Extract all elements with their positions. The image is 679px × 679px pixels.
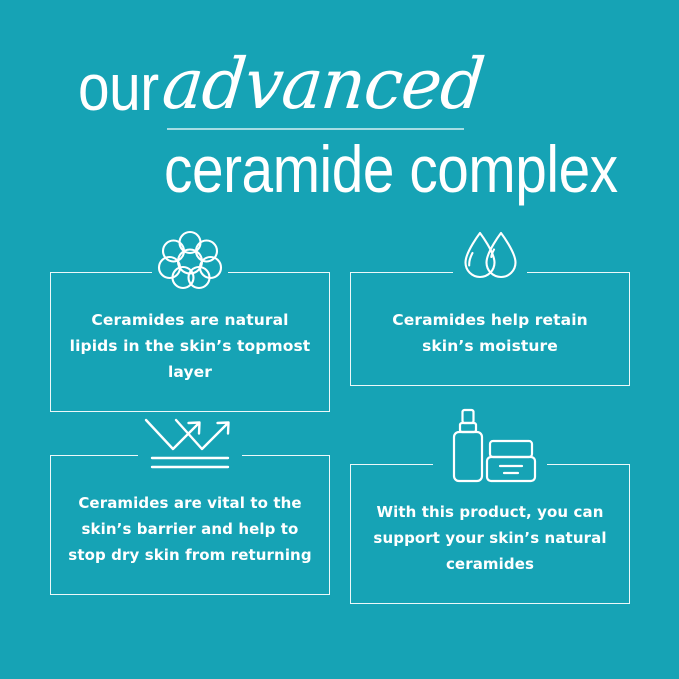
card-text: Ceramides are natural lipids in the skin…	[67, 307, 313, 385]
card-border-box: Ceramides are natural lipids in the skin…	[50, 272, 330, 412]
card-border-box: Ceramides are vital to the skin’s barrie…	[50, 455, 330, 595]
flower-cell-cluster-icon	[154, 228, 226, 290]
benefit-card: Ceramides help retain skin’s moisture	[350, 228, 630, 386]
title-line-1: our advanced	[0, 52, 679, 128]
barrier-deflecting-arrows-icon	[140, 413, 240, 475]
card-text: Ceramides help retain skin’s moisture	[367, 307, 613, 359]
benefit-card: With this product, you can support your …	[350, 408, 630, 604]
card-text: With this product, you can support your …	[367, 499, 613, 577]
benefit-card: Ceramides are vital to the skin’s barrie…	[50, 413, 330, 595]
benefit-card: Ceramides are natural lipids in the skin…	[50, 228, 330, 412]
title-line-2: ceramide complex	[164, 134, 618, 204]
pump-bottle-and-jar-icon	[435, 408, 545, 486]
page-title: our advanced ceramide complex	[0, 52, 679, 202]
title-underline-rule	[167, 128, 464, 130]
benefit-card-grid: Ceramides are natural lipids in the skin…	[50, 228, 630, 588]
card-text: Ceramides are vital to the skin’s barrie…	[67, 490, 313, 568]
title-word-advanced-script: advanced	[159, 46, 487, 122]
title-word-our: our	[78, 54, 159, 120]
water-droplets-icon	[455, 228, 525, 290]
ceramide-complex-infographic: our advanced ceramide complex	[0, 0, 679, 679]
